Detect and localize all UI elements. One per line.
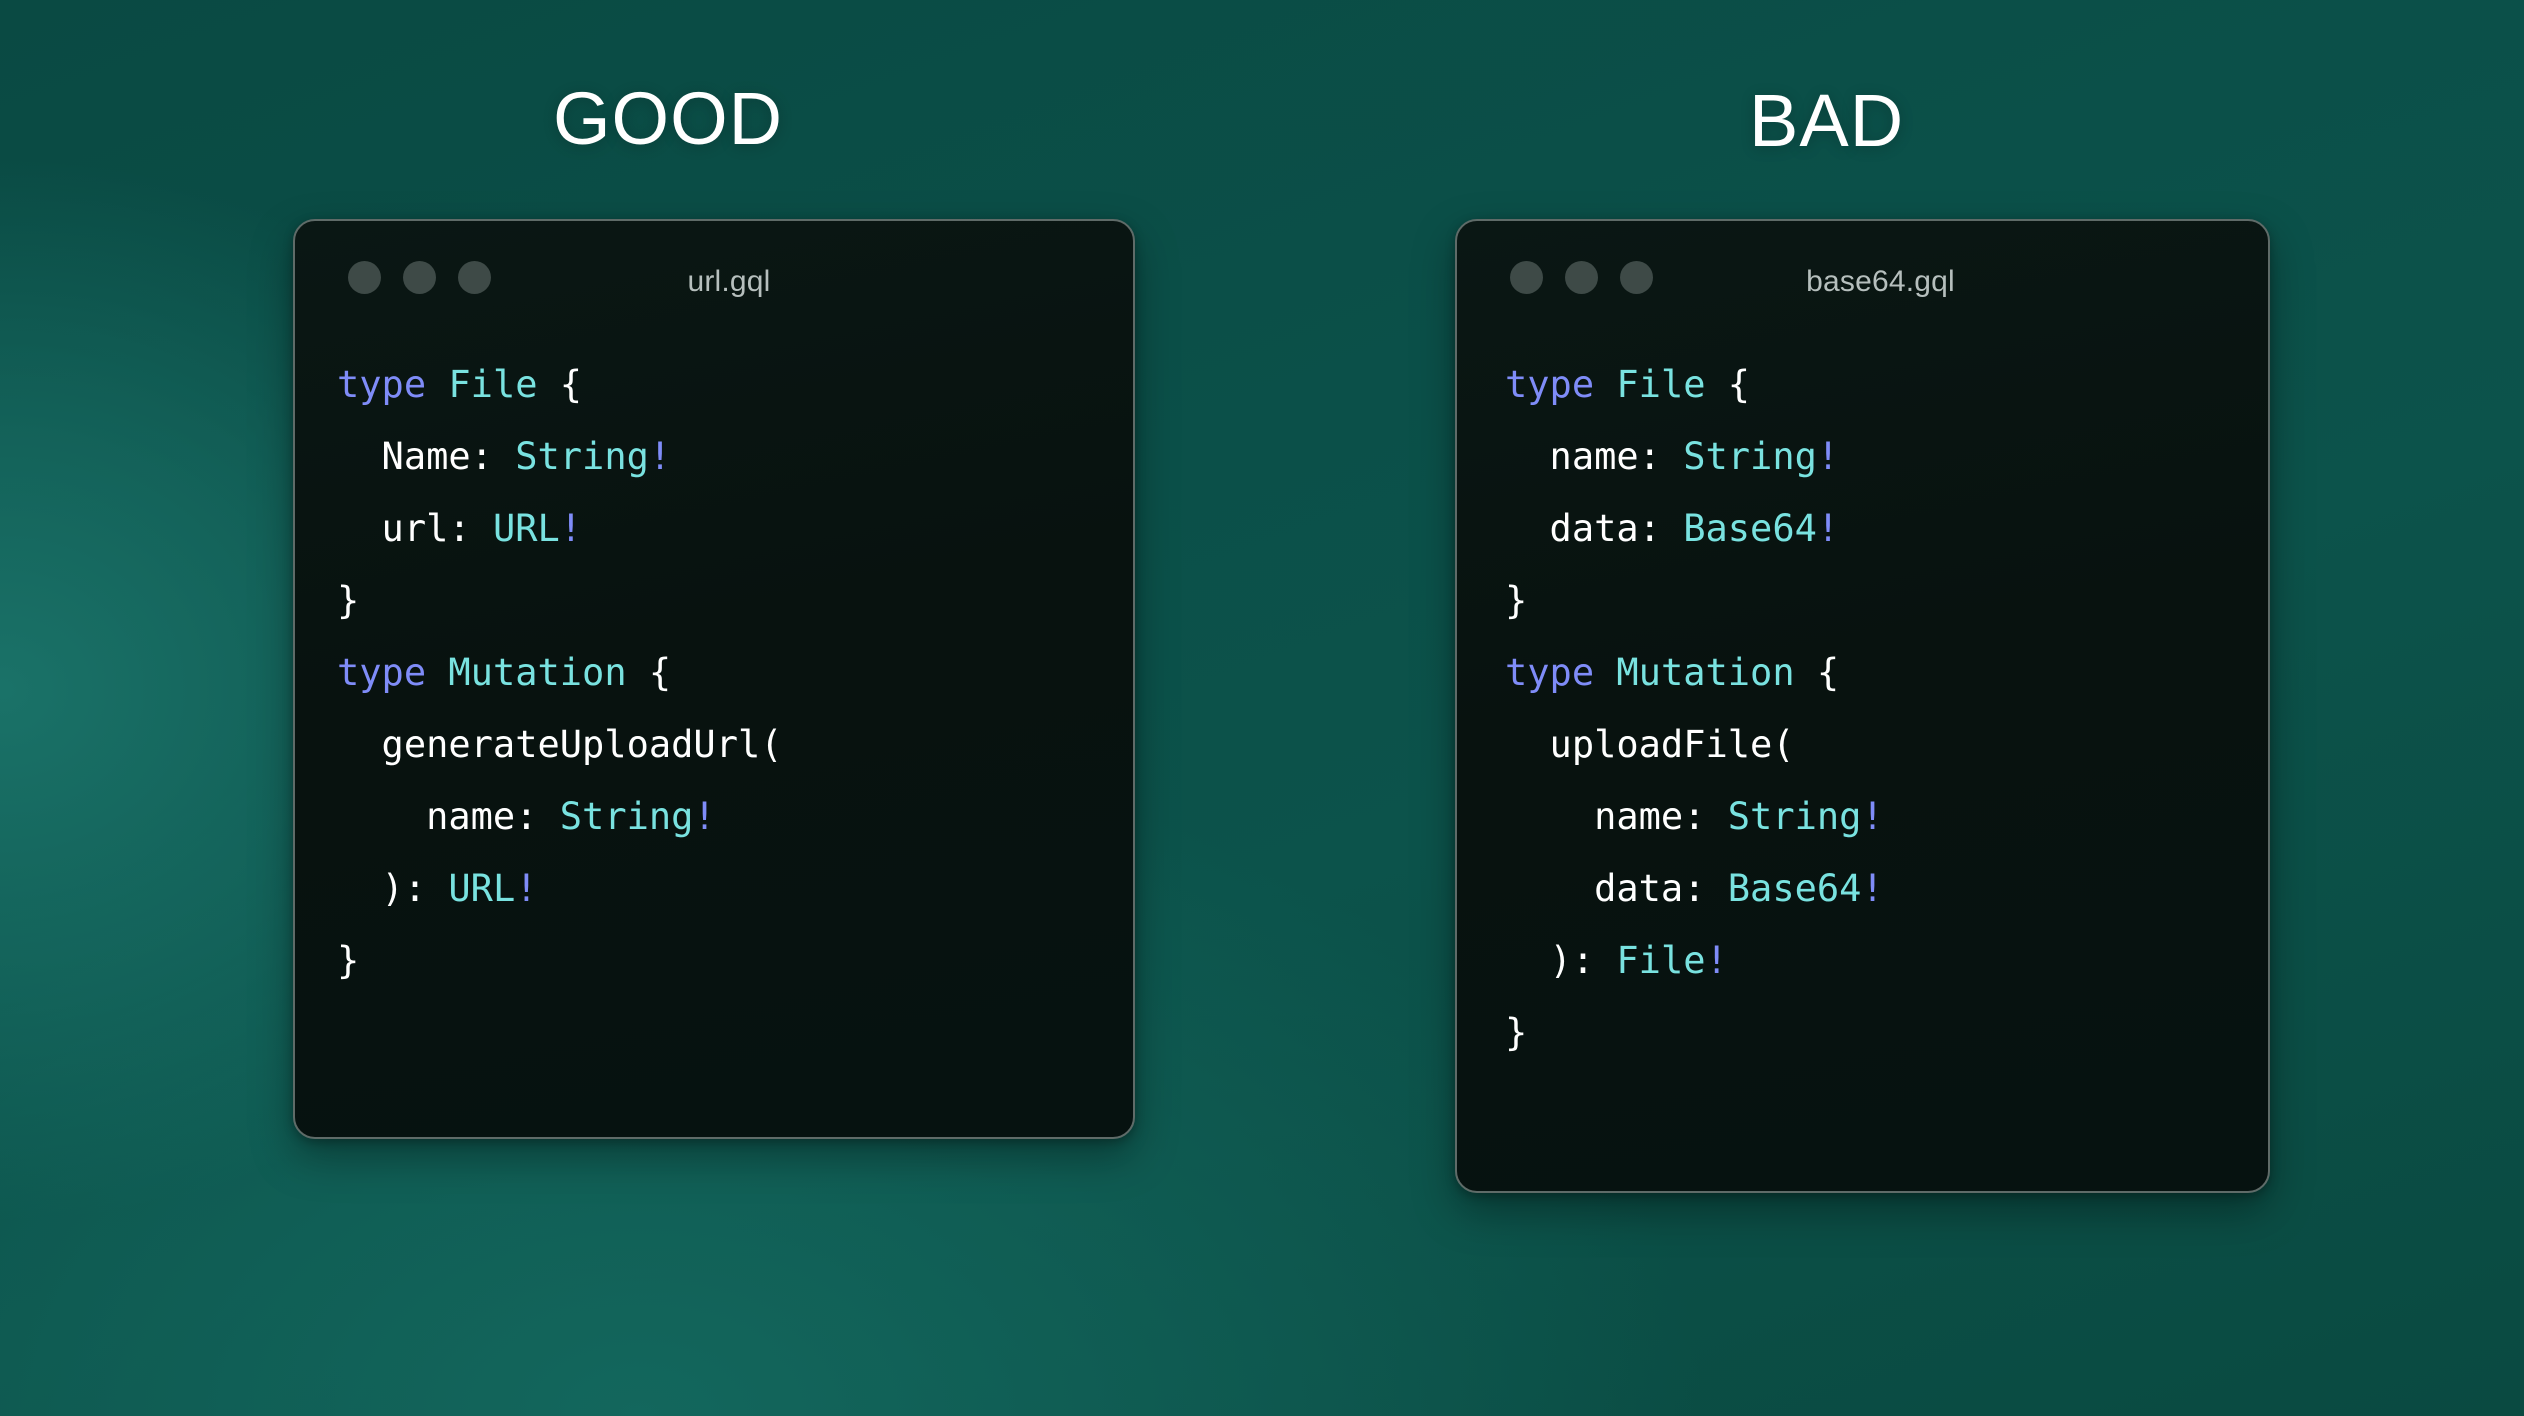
code-line: type Mutation { xyxy=(337,637,1133,709)
code-token-type: URL xyxy=(493,507,560,550)
code-line: } xyxy=(337,565,1133,637)
code-token-bang: ! xyxy=(1817,435,1839,478)
code-line: type Mutation { xyxy=(1505,637,2268,709)
code-token-plain: { xyxy=(538,363,583,406)
code-token-plain: url: xyxy=(337,507,493,550)
code-block-good: type File { Name: String! url: URL!}type… xyxy=(295,325,1133,997)
code-token-plain: Name: xyxy=(337,435,515,478)
card-titlebar-good: url.gql xyxy=(295,221,1133,325)
code-token-plain: { xyxy=(1795,651,1840,694)
code-token-type: String xyxy=(1728,795,1862,838)
column-heading-good: GOOD xyxy=(553,82,783,156)
code-token-kw: type xyxy=(337,651,426,694)
code-line: type File { xyxy=(337,349,1133,421)
code-token-plain: generateUploadUrl( xyxy=(337,723,783,766)
code-token-plain xyxy=(426,363,448,406)
code-token-plain: ): xyxy=(1505,939,1616,982)
code-token-plain: ): xyxy=(337,867,448,910)
code-line: ): URL! xyxy=(337,853,1133,925)
code-line: data: Base64! xyxy=(1505,853,2268,925)
code-token-plain: data: xyxy=(1505,507,1683,550)
code-token-kw: type xyxy=(337,363,426,406)
code-line: type File { xyxy=(1505,349,2268,421)
code-token-bang: ! xyxy=(693,795,715,838)
code-token-type: File xyxy=(1616,363,1705,406)
code-token-plain xyxy=(426,651,448,694)
code-line: name: String! xyxy=(1505,421,2268,493)
code-token-kw: type xyxy=(1505,651,1594,694)
code-block-bad: type File { name: String! data: Base64!}… xyxy=(1457,325,2268,1069)
code-token-type: Base64 xyxy=(1683,507,1817,550)
code-token-type: Base64 xyxy=(1728,867,1862,910)
code-token-bang: ! xyxy=(1861,867,1883,910)
code-token-bang: ! xyxy=(560,507,582,550)
code-line: data: Base64! xyxy=(1505,493,2268,565)
code-line: uploadFile( xyxy=(1505,709,2268,781)
code-line: name: String! xyxy=(337,781,1133,853)
code-line: } xyxy=(337,925,1133,997)
code-token-plain xyxy=(1594,363,1616,406)
code-token-type: Mutation xyxy=(448,651,626,694)
code-token-plain xyxy=(1594,651,1616,694)
code-token-plain: } xyxy=(1505,579,1527,622)
code-line: } xyxy=(1505,997,2268,1069)
code-token-type: File xyxy=(1616,939,1705,982)
code-token-type: URL xyxy=(448,867,515,910)
code-line: Name: String! xyxy=(337,421,1133,493)
code-token-plain: name: xyxy=(337,795,560,838)
code-token-type: String xyxy=(1683,435,1817,478)
comparison-stage: GOOD BAD url.gql type File { Name: Strin… xyxy=(0,0,2524,1416)
code-token-bang: ! xyxy=(1817,507,1839,550)
code-token-bang: ! xyxy=(515,867,537,910)
code-token-type: String xyxy=(515,435,649,478)
code-token-plain: } xyxy=(337,939,359,982)
code-token-plain: } xyxy=(337,579,359,622)
code-token-plain: name: xyxy=(1505,795,1728,838)
code-token-plain: } xyxy=(1505,1011,1527,1054)
code-token-plain: { xyxy=(1706,363,1751,406)
code-card-bad: base64.gql type File { name: String! dat… xyxy=(1455,219,2270,1193)
code-token-bang: ! xyxy=(1861,795,1883,838)
column-heading-bad: BAD xyxy=(1749,84,1904,158)
code-token-bang: ! xyxy=(649,435,671,478)
code-token-bang: ! xyxy=(1706,939,1728,982)
code-token-plain: uploadFile( xyxy=(1505,723,1795,766)
code-token-kw: type xyxy=(1505,363,1594,406)
card-filename-good: url.gql xyxy=(295,265,1133,299)
code-token-plain: { xyxy=(627,651,672,694)
code-token-type: Mutation xyxy=(1616,651,1794,694)
code-token-plain: data: xyxy=(1505,867,1728,910)
code-line: } xyxy=(1505,565,2268,637)
code-line: name: String! xyxy=(1505,781,2268,853)
card-titlebar-bad: base64.gql xyxy=(1457,221,2268,325)
code-card-good: url.gql type File { Name: String! url: U… xyxy=(293,219,1135,1139)
code-line: generateUploadUrl( xyxy=(337,709,1133,781)
code-token-plain: name: xyxy=(1505,435,1683,478)
code-line: url: URL! xyxy=(337,493,1133,565)
code-token-type: String xyxy=(560,795,694,838)
code-token-type: File xyxy=(448,363,537,406)
card-filename-bad: base64.gql xyxy=(1457,265,2268,299)
code-line: ): File! xyxy=(1505,925,2268,997)
